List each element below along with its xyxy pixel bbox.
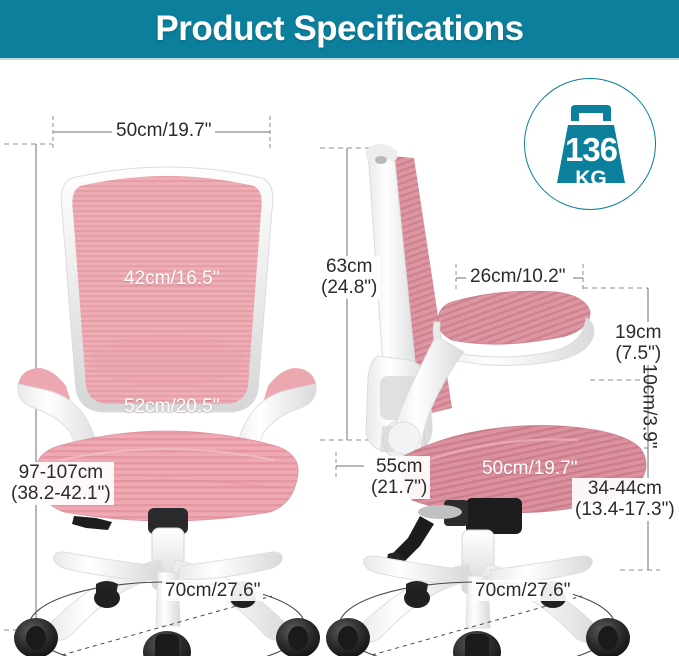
side-seat-depth-label: 50cm/19.7" <box>482 458 577 479</box>
side-backrest-height-line2: (24.8") <box>321 277 377 298</box>
side-seat-front-depth-line2: (21.7") <box>371 477 427 498</box>
weight-capacity-badge: 136 KG <box>524 78 656 210</box>
front-seat-width-label: 52cm/20.5" <box>124 396 219 417</box>
front-overall-height-line1: 97-107cm <box>11 462 111 483</box>
front-base-diameter-label: 70cm/27.6" <box>162 580 263 601</box>
side-backrest-height-line1: 63cm <box>321 256 377 277</box>
weight-value: 136 <box>525 131 657 169</box>
side-armrest-length-label: 26cm/10.2" <box>467 266 568 287</box>
side-armrest-height-line1: 19cm <box>615 322 661 343</box>
side-seat-height-label: 34-44cm (13.4-17.3") <box>572 478 678 521</box>
side-backrest-height-label: 63cm (24.8") <box>318 256 380 299</box>
side-armrest-height-label: 19cm (7.5") <box>612 322 664 365</box>
front-backrest-width-label: 50cm/19.7" <box>113 120 214 141</box>
side-seat-height-line1: 34-44cm <box>575 478 675 499</box>
front-backrest-height-label: 42cm/16.5" <box>124 268 219 289</box>
header-banner: Product Specifications <box>0 0 679 58</box>
page-title: Product Specifications <box>155 9 523 49</box>
front-overall-height-label: 97-107cm (38.2-42.1") <box>8 462 114 505</box>
side-armrest-height-line2: (7.5") <box>615 343 661 364</box>
side-base-diameter-label: 70cm/27.6" <box>472 580 573 601</box>
side-seat-front-depth-line1: 55cm <box>371 456 427 477</box>
weight-unit: KG <box>525 167 657 191</box>
front-overall-height-line2: (38.2-42.1") <box>11 483 111 504</box>
side-seat-front-depth-label: 55cm (21.7") <box>368 456 430 499</box>
side-armrest-adjust-label: 10cm/3.9" <box>638 364 659 438</box>
side-seat-height-line2: (13.4-17.3") <box>575 499 675 520</box>
